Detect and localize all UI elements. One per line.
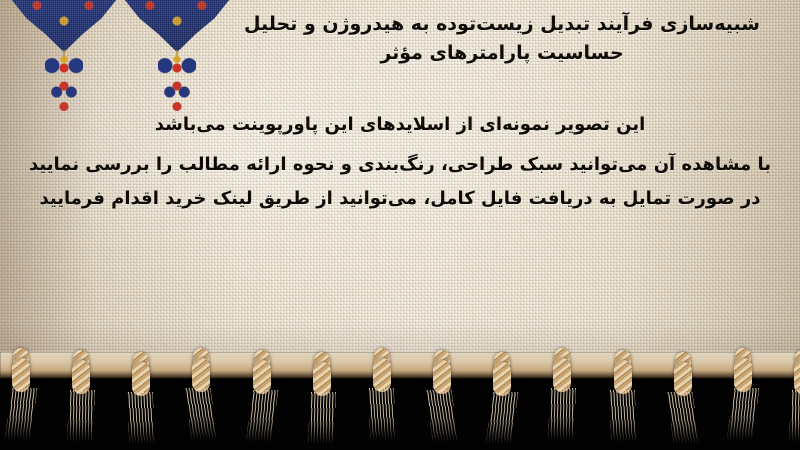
medallion-pendant-icon xyxy=(51,80,77,100)
tassel-strands xyxy=(486,392,519,444)
medallion-icon xyxy=(125,0,229,60)
slide-title-line-1: شبیه‌سازی فرآیند تبدیل زیست‌توده به هیدر… xyxy=(222,10,782,39)
fringe-tassel xyxy=(307,362,337,446)
medallion-pendant-icon xyxy=(158,56,196,80)
medallion-pendant-icon xyxy=(164,80,190,100)
tassel-knot xyxy=(674,362,692,396)
tassel-knot xyxy=(614,360,632,394)
tassel-strands xyxy=(789,390,800,442)
tassel-knot xyxy=(433,360,451,394)
fringe-tassel xyxy=(547,358,577,442)
tassel-knot xyxy=(553,358,571,392)
tassel-knot xyxy=(734,358,752,392)
tassel-strands xyxy=(308,392,336,444)
tassel-knot xyxy=(313,362,331,396)
fringe-tassel xyxy=(728,358,758,442)
tassel-knot xyxy=(253,360,271,394)
medallion-icon xyxy=(12,0,116,60)
tassel-strands xyxy=(127,392,155,444)
slide-body-text: این تصویر نمونه‌ای از اسلایدهای این پاور… xyxy=(0,112,800,220)
fringe-tassel xyxy=(247,360,277,444)
medallion-pendant-icon xyxy=(45,56,83,80)
slide-title-line-2: حساسیت پارامترهای مؤثر xyxy=(222,39,782,68)
fringe-tassel xyxy=(668,362,698,446)
tassel-strands xyxy=(726,388,759,440)
carpet-medallion-ornament xyxy=(12,0,116,60)
fringe-tassel xyxy=(788,360,800,444)
tassel-strands xyxy=(608,390,636,442)
slide-title: شبیه‌سازی فرآیند تبدیل زیست‌توده به هیدر… xyxy=(222,10,782,67)
fringe-tassel xyxy=(126,362,156,446)
carpet-medallion-ornament xyxy=(125,0,229,60)
tassel-strands xyxy=(185,388,218,440)
tassel-knot xyxy=(12,358,30,392)
tassel-strands xyxy=(5,388,38,440)
body-line-design-notice: با مشاهده آن می‌توانید سبک طراحی، رنگ‌بن… xyxy=(0,152,800,178)
tassel-strands xyxy=(666,392,699,444)
fringe-tassel xyxy=(186,358,216,442)
fringe-tassel xyxy=(427,360,457,444)
body-line-sample-notice: این تصویر نمونه‌ای از اسلایدهای این پاور… xyxy=(0,112,800,138)
tassel-knot xyxy=(192,358,210,392)
tassel-knot xyxy=(493,362,511,396)
medallion-pendant-icon xyxy=(172,102,182,111)
tassel-strands xyxy=(426,390,459,442)
tassel-knot xyxy=(72,360,90,394)
medallion-pendant-icon xyxy=(59,102,69,111)
tassel-strands xyxy=(368,388,396,440)
slide-canvas: شبیه‌سازی فرآیند تبدیل زیست‌توده به هیدر… xyxy=(0,0,800,450)
fringe-tassel xyxy=(6,358,36,442)
fringe-tassel xyxy=(66,360,96,444)
body-line-purchase-notice: در صورت تمایل به دریافت فایل کامل، می‌تو… xyxy=(0,186,800,212)
fringe-tassel xyxy=(367,358,397,442)
tassel-strands xyxy=(245,390,278,442)
tassel-knot xyxy=(132,362,150,396)
tassel-strands xyxy=(67,390,95,442)
tassel-knot xyxy=(794,360,800,394)
tassel-knot xyxy=(373,358,391,392)
tassel-strands xyxy=(548,388,576,440)
fringe-tassel xyxy=(608,360,638,444)
fringe-tassel xyxy=(487,362,517,446)
